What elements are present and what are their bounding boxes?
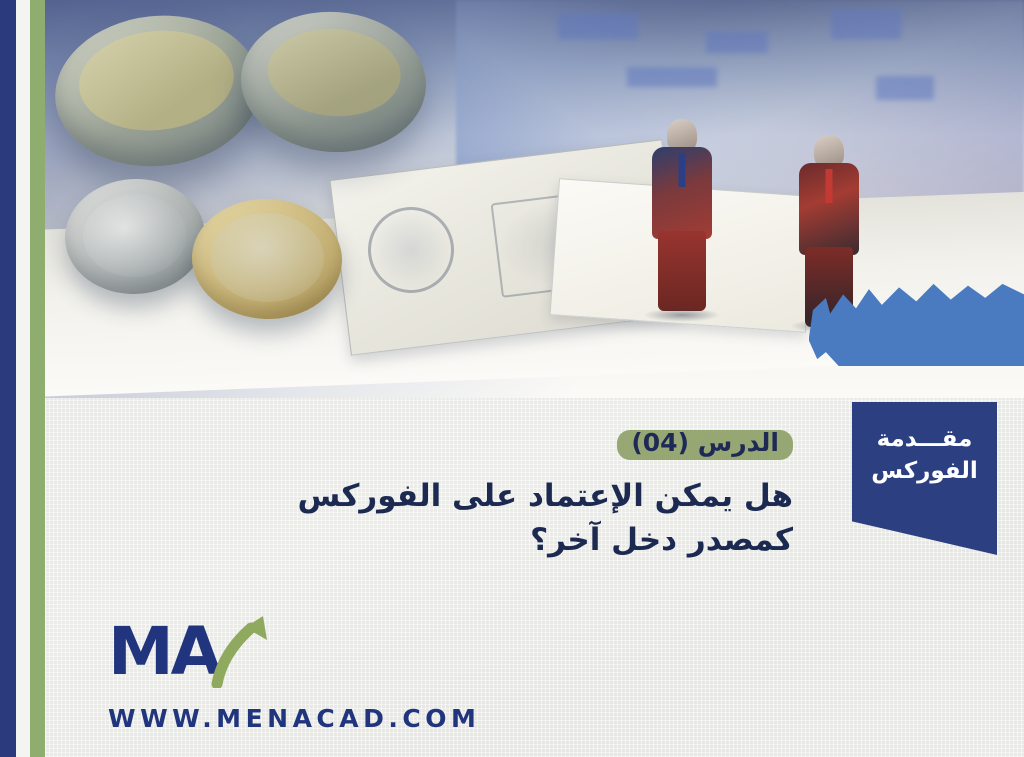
left-stripe-blue bbox=[0, 0, 16, 757]
logo: MA bbox=[108, 616, 278, 688]
brand-block: MA WWW.MENACAD.COM bbox=[108, 616, 480, 733]
badge-line-2: الفوركس bbox=[871, 456, 978, 488]
businessman-figurine-left bbox=[652, 119, 712, 314]
headline-line-2: كمصدر دخل آخر؟ bbox=[298, 518, 793, 563]
coin-stack-left bbox=[48, 6, 268, 177]
hero-photo bbox=[45, 0, 1024, 398]
businessman-figurine-right bbox=[799, 135, 859, 325]
lesson-badge: الدرس (04) bbox=[617, 426, 793, 462]
coin-stack-right bbox=[236, 6, 430, 159]
lower-panel: مقـــدمة الفوركس الدرس (04) هل يمكن الإع… bbox=[45, 398, 1024, 757]
page-title: هل يمكن الإعتماد على الفوركس كمصدر دخل آ… bbox=[298, 474, 793, 564]
green-arrow-icon bbox=[211, 614, 275, 688]
headline-line-1: هل يمكن الإعتماد على الفوركس bbox=[298, 474, 793, 519]
left-stripe-white bbox=[16, 0, 30, 757]
text-block: الدرس (04) هل يمكن الإعتماد على الفوركس … bbox=[298, 426, 793, 563]
content-canvas: مقـــدمة الفوركس الدرس (04) هل يمكن الإع… bbox=[45, 0, 1024, 757]
left-stripe-green bbox=[30, 0, 45, 757]
category-badge: مقـــدمة الفوركس bbox=[852, 402, 997, 555]
badge-line-1: مقـــدمة bbox=[877, 424, 973, 456]
lesson-label: الدرس (04) bbox=[631, 428, 779, 457]
website-url: WWW.MENACAD.COM bbox=[108, 704, 480, 733]
slide-canvas: مقـــدمة الفوركس الدرس (04) هل يمكن الإع… bbox=[0, 0, 1024, 757]
